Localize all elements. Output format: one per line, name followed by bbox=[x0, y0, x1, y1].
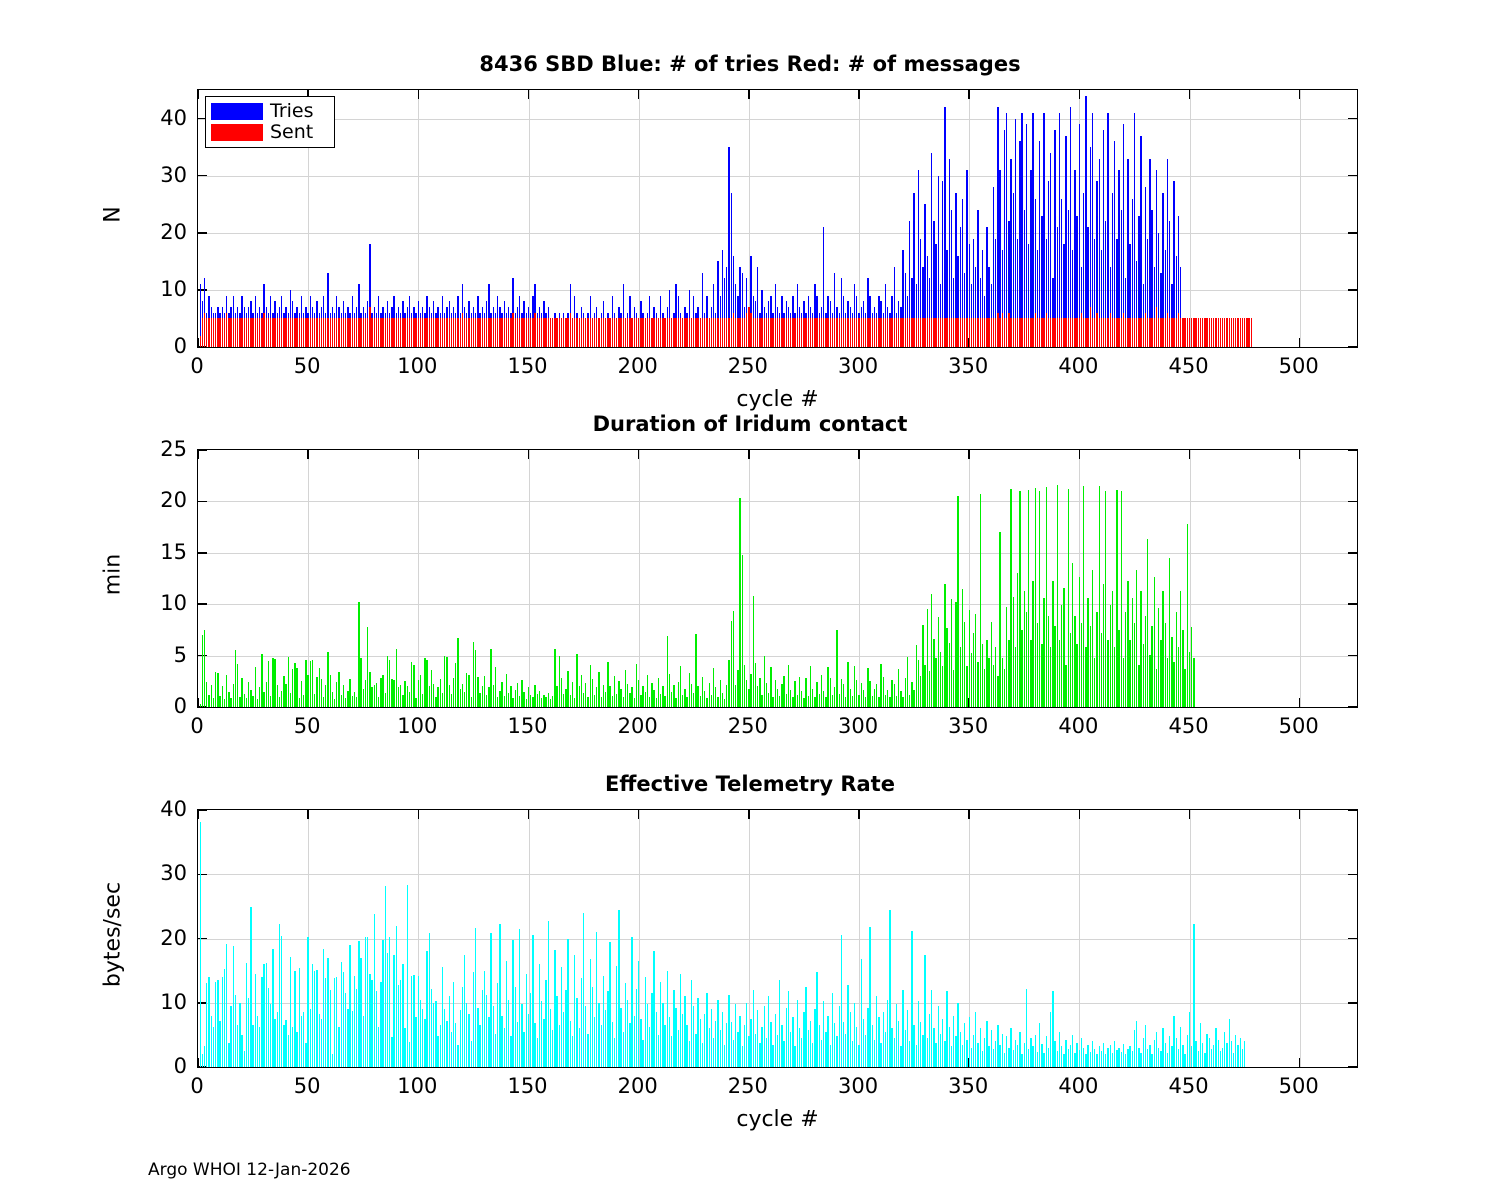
bar bbox=[528, 318, 529, 347]
bar bbox=[252, 318, 253, 347]
bar bbox=[896, 696, 897, 707]
bar bbox=[429, 933, 430, 1067]
bar bbox=[911, 931, 912, 1067]
bar bbox=[523, 318, 524, 347]
bar bbox=[312, 318, 313, 347]
bar bbox=[266, 682, 267, 707]
bar bbox=[671, 318, 672, 347]
bar bbox=[1127, 318, 1128, 347]
bar bbox=[836, 630, 837, 707]
bar bbox=[378, 1027, 379, 1067]
bar bbox=[579, 686, 580, 707]
bar bbox=[354, 692, 355, 707]
y-tick-mark-right bbox=[1348, 874, 1357, 876]
bar bbox=[1048, 1048, 1049, 1067]
bar bbox=[277, 1012, 278, 1067]
bar bbox=[682, 695, 683, 707]
bar bbox=[997, 313, 998, 347]
bar bbox=[671, 692, 672, 707]
bar bbox=[843, 318, 844, 347]
bar bbox=[272, 949, 273, 1067]
bar bbox=[530, 695, 531, 707]
bar bbox=[656, 1012, 657, 1067]
bar bbox=[982, 1051, 983, 1067]
bar bbox=[1226, 318, 1227, 347]
bar bbox=[986, 1021, 987, 1067]
bar bbox=[839, 694, 840, 707]
bar bbox=[770, 318, 771, 347]
bar bbox=[228, 692, 229, 707]
bar bbox=[1154, 577, 1155, 707]
bar bbox=[861, 959, 862, 1067]
bar bbox=[464, 318, 465, 347]
bar bbox=[938, 318, 939, 347]
bar bbox=[285, 684, 286, 707]
bar bbox=[598, 672, 599, 707]
bar bbox=[360, 958, 361, 1067]
bar bbox=[352, 318, 353, 347]
bar bbox=[863, 1019, 864, 1067]
bar bbox=[396, 649, 397, 707]
bar bbox=[640, 695, 641, 707]
bar bbox=[975, 1012, 976, 1067]
bar bbox=[426, 951, 427, 1067]
bar bbox=[380, 318, 381, 347]
bar bbox=[1206, 1034, 1207, 1067]
bar bbox=[902, 990, 903, 1067]
bar bbox=[748, 307, 749, 347]
bar bbox=[323, 318, 324, 347]
x-tick-mark-top bbox=[418, 810, 420, 819]
legend-swatch-sent bbox=[211, 124, 263, 141]
gridline-horizontal bbox=[198, 501, 1357, 502]
bar bbox=[592, 318, 593, 347]
bar bbox=[1026, 124, 1027, 347]
bar bbox=[327, 652, 328, 708]
bar bbox=[1107, 640, 1108, 707]
bar bbox=[312, 660, 313, 707]
bar bbox=[803, 318, 804, 347]
bar bbox=[1032, 318, 1033, 347]
bar bbox=[797, 1000, 798, 1067]
bar bbox=[1231, 1041, 1232, 1067]
bar bbox=[977, 318, 978, 347]
bar bbox=[548, 921, 549, 1067]
bar bbox=[709, 683, 710, 707]
bar bbox=[508, 1000, 509, 1067]
bar bbox=[426, 660, 427, 707]
bar bbox=[777, 689, 778, 708]
bar bbox=[393, 955, 394, 1067]
bar bbox=[898, 318, 899, 347]
bar bbox=[301, 318, 302, 347]
x-tick-label: 200 bbox=[618, 1074, 658, 1098]
bar bbox=[213, 318, 214, 347]
bar bbox=[944, 584, 945, 707]
bar bbox=[237, 318, 238, 347]
bar bbox=[1180, 1027, 1181, 1067]
bar bbox=[325, 318, 326, 347]
bar bbox=[1101, 1051, 1102, 1067]
bar bbox=[499, 924, 500, 1067]
bar bbox=[279, 924, 280, 1067]
bar bbox=[843, 1022, 844, 1067]
x-tick-mark-top bbox=[748, 450, 750, 459]
bar bbox=[1195, 318, 1196, 347]
bar bbox=[277, 685, 278, 707]
bar bbox=[1083, 318, 1084, 347]
bar bbox=[693, 1006, 694, 1067]
bar bbox=[713, 318, 714, 347]
bar bbox=[468, 675, 469, 707]
bar bbox=[980, 494, 981, 707]
bar bbox=[587, 697, 588, 707]
bar bbox=[352, 696, 353, 707]
bar bbox=[746, 680, 747, 707]
bar bbox=[301, 1016, 302, 1067]
bar bbox=[493, 685, 494, 707]
bar bbox=[1173, 662, 1174, 707]
bar bbox=[1059, 113, 1060, 347]
bar bbox=[988, 318, 989, 347]
bar bbox=[1024, 318, 1025, 347]
bar bbox=[330, 675, 331, 707]
bar bbox=[1087, 318, 1088, 347]
y-tick-mark bbox=[198, 175, 207, 177]
bar bbox=[805, 987, 806, 1067]
bar bbox=[728, 147, 729, 347]
bar bbox=[1209, 318, 1210, 347]
bar bbox=[638, 680, 639, 707]
bar bbox=[1191, 627, 1192, 707]
bar bbox=[757, 686, 758, 707]
bar bbox=[739, 1016, 740, 1067]
y-tick-mark-right bbox=[1348, 346, 1357, 348]
bar bbox=[440, 679, 441, 707]
bar bbox=[946, 628, 947, 707]
bar bbox=[255, 318, 256, 347]
bar bbox=[601, 1025, 602, 1067]
bar bbox=[737, 318, 738, 347]
bar bbox=[847, 662, 848, 707]
bar bbox=[1065, 1040, 1066, 1067]
bar bbox=[693, 693, 694, 707]
bar bbox=[215, 982, 216, 1067]
bar bbox=[277, 318, 278, 347]
bar bbox=[464, 955, 465, 1067]
y-tick-mark-right bbox=[1348, 501, 1357, 503]
bar bbox=[764, 318, 765, 347]
bar bbox=[1043, 113, 1044, 347]
gridline-horizontal bbox=[198, 604, 1357, 605]
bar bbox=[233, 946, 234, 1067]
bar bbox=[468, 318, 469, 347]
bar bbox=[349, 679, 350, 707]
bar bbox=[878, 697, 879, 707]
legend-tries-sent: Tries Sent bbox=[205, 96, 335, 148]
bar bbox=[486, 318, 487, 347]
bar bbox=[532, 935, 533, 1067]
bar bbox=[1057, 1051, 1058, 1067]
bar bbox=[984, 318, 985, 347]
bar bbox=[576, 318, 577, 347]
bar bbox=[744, 318, 745, 347]
bar bbox=[473, 318, 474, 347]
bar bbox=[358, 318, 359, 347]
bar bbox=[1035, 488, 1036, 707]
bar bbox=[440, 318, 441, 347]
y-tick-label: 40 bbox=[125, 106, 187, 130]
bar bbox=[942, 1019, 943, 1067]
bar bbox=[471, 1041, 472, 1067]
bar bbox=[755, 663, 756, 707]
bar bbox=[292, 1027, 293, 1067]
bar bbox=[737, 1032, 738, 1067]
bar bbox=[1136, 1021, 1137, 1067]
bar bbox=[528, 1014, 529, 1067]
bar bbox=[420, 1000, 421, 1067]
bar bbox=[874, 689, 875, 708]
bar bbox=[966, 666, 967, 707]
bar bbox=[1035, 1035, 1036, 1067]
bar bbox=[1015, 1040, 1016, 1067]
x-tick-mark bbox=[197, 338, 199, 347]
bar bbox=[420, 318, 421, 347]
bar bbox=[327, 318, 328, 347]
x-tick-mark bbox=[197, 698, 199, 707]
bar bbox=[786, 318, 787, 347]
bar bbox=[1061, 318, 1062, 347]
bar bbox=[1173, 1016, 1174, 1067]
bar bbox=[647, 1004, 648, 1067]
bar bbox=[876, 996, 877, 1067]
bar bbox=[1094, 318, 1095, 347]
bar bbox=[1112, 318, 1113, 347]
bar bbox=[603, 976, 604, 1067]
bar bbox=[931, 594, 932, 707]
bar bbox=[235, 318, 236, 347]
bar bbox=[905, 678, 906, 707]
bar bbox=[1087, 598, 1088, 707]
bar bbox=[1134, 113, 1135, 347]
bar bbox=[667, 971, 668, 1067]
bar bbox=[788, 318, 789, 347]
bar bbox=[1013, 1050, 1014, 1067]
bar bbox=[647, 675, 648, 707]
bar bbox=[563, 318, 564, 347]
bar bbox=[686, 697, 687, 707]
bar bbox=[1125, 1054, 1126, 1067]
bar bbox=[1072, 318, 1073, 347]
bar bbox=[283, 676, 284, 707]
bar bbox=[964, 622, 965, 707]
bar bbox=[777, 1035, 778, 1067]
bar bbox=[753, 596, 754, 707]
bar bbox=[880, 1043, 881, 1067]
bar bbox=[490, 933, 491, 1067]
bar bbox=[1118, 1048, 1119, 1067]
bar bbox=[206, 983, 207, 1067]
bar bbox=[1002, 313, 1003, 347]
bar bbox=[429, 318, 430, 347]
gridline-horizontal bbox=[198, 119, 1357, 120]
bar bbox=[581, 675, 582, 707]
bar bbox=[924, 318, 925, 347]
bar bbox=[1070, 318, 1071, 347]
bar bbox=[982, 318, 983, 347]
bar bbox=[1019, 141, 1020, 347]
bar bbox=[704, 318, 705, 347]
bar bbox=[241, 318, 242, 347]
bar bbox=[1046, 487, 1047, 707]
bar bbox=[1180, 318, 1181, 347]
bar bbox=[371, 318, 372, 347]
bar bbox=[314, 971, 315, 1067]
bar bbox=[409, 1042, 410, 1067]
bar bbox=[675, 318, 676, 347]
bar bbox=[1074, 616, 1075, 707]
bar bbox=[323, 949, 324, 1067]
gridline-vertical bbox=[1300, 90, 1301, 347]
bar bbox=[534, 313, 535, 347]
bar bbox=[896, 1004, 897, 1067]
bar bbox=[601, 697, 602, 707]
bar bbox=[268, 988, 269, 1067]
gridline-vertical bbox=[859, 450, 860, 707]
bar bbox=[946, 318, 947, 347]
bar bbox=[1101, 633, 1102, 707]
bar bbox=[1008, 313, 1009, 347]
bar bbox=[1019, 1032, 1020, 1067]
bar bbox=[259, 1027, 260, 1067]
bar bbox=[969, 318, 970, 347]
bar bbox=[517, 318, 518, 347]
panel-title-sbd: 8436 SBD Blue: # of tries Red: # of mess… bbox=[0, 52, 1500, 76]
x-tick-mark-top bbox=[1189, 90, 1191, 99]
bar bbox=[1154, 1040, 1155, 1067]
bar bbox=[812, 318, 813, 347]
bar bbox=[567, 939, 568, 1068]
bar bbox=[482, 686, 483, 707]
bar bbox=[933, 639, 934, 707]
bar bbox=[993, 318, 994, 347]
bar bbox=[977, 1043, 978, 1067]
bar bbox=[519, 929, 520, 1067]
bar bbox=[1184, 669, 1185, 707]
bar bbox=[728, 660, 729, 707]
bar bbox=[1076, 1043, 1077, 1067]
bar bbox=[294, 663, 295, 707]
bar bbox=[385, 886, 386, 1067]
bar bbox=[296, 1032, 297, 1067]
gridline-vertical bbox=[418, 450, 419, 707]
bar bbox=[543, 1019, 544, 1067]
bar bbox=[239, 318, 240, 347]
bar bbox=[255, 974, 256, 1067]
bar bbox=[887, 690, 888, 707]
bar bbox=[949, 1027, 950, 1067]
bar bbox=[695, 318, 696, 347]
bar bbox=[627, 1000, 628, 1067]
gridline-horizontal bbox=[198, 874, 1357, 875]
bar bbox=[217, 318, 218, 347]
bar bbox=[369, 672, 370, 707]
bar bbox=[404, 318, 405, 347]
bar bbox=[997, 107, 998, 347]
x-tick-mark-top bbox=[1079, 810, 1081, 819]
bar bbox=[887, 1000, 888, 1067]
bar bbox=[592, 679, 593, 707]
bar bbox=[248, 318, 249, 347]
bar bbox=[1026, 612, 1027, 707]
bar bbox=[1090, 307, 1091, 347]
bar bbox=[940, 1034, 941, 1067]
bar bbox=[409, 318, 410, 347]
bar bbox=[1200, 318, 1201, 347]
bar bbox=[288, 1035, 289, 1067]
bar bbox=[799, 677, 800, 707]
bar bbox=[819, 694, 820, 707]
x-tick-label: 350 bbox=[948, 1074, 988, 1098]
bar bbox=[1032, 581, 1033, 707]
bar bbox=[389, 318, 390, 347]
bar bbox=[1178, 1049, 1179, 1067]
bar bbox=[1134, 1030, 1135, 1067]
bar bbox=[327, 958, 328, 1067]
bar bbox=[1037, 1052, 1038, 1067]
bar bbox=[867, 318, 868, 347]
bar bbox=[742, 1046, 743, 1067]
bar bbox=[305, 660, 306, 707]
bar bbox=[1087, 1045, 1088, 1067]
gridline-horizontal bbox=[198, 290, 1357, 291]
bar bbox=[775, 1014, 776, 1067]
bar bbox=[1065, 665, 1066, 707]
bar bbox=[497, 697, 498, 707]
bar bbox=[885, 695, 886, 707]
bar bbox=[876, 318, 877, 347]
bar bbox=[1200, 1023, 1201, 1067]
bar bbox=[658, 1035, 659, 1067]
bar bbox=[429, 686, 430, 707]
bar bbox=[360, 658, 361, 707]
bar bbox=[700, 1019, 701, 1067]
bar bbox=[768, 693, 769, 707]
bar bbox=[726, 685, 727, 707]
bar bbox=[929, 671, 930, 707]
bar bbox=[1149, 1045, 1150, 1067]
x-tick-label: 150 bbox=[507, 354, 547, 378]
bar bbox=[239, 697, 240, 707]
x-tick-mark-top bbox=[638, 450, 640, 459]
bar bbox=[252, 1025, 253, 1067]
bar bbox=[1121, 1052, 1122, 1067]
bar bbox=[634, 698, 635, 707]
bar bbox=[1244, 1041, 1245, 1067]
bar bbox=[462, 684, 463, 707]
bar bbox=[464, 692, 465, 707]
bar bbox=[951, 599, 952, 707]
bar bbox=[574, 698, 575, 707]
y-tick-label: 10 bbox=[125, 277, 187, 301]
bar bbox=[955, 1036, 956, 1067]
bar bbox=[446, 657, 447, 707]
bar bbox=[1160, 640, 1161, 707]
bar bbox=[750, 1019, 751, 1067]
bar bbox=[215, 318, 216, 347]
bar bbox=[495, 667, 496, 707]
y-tick-label: 20 bbox=[125, 220, 187, 244]
